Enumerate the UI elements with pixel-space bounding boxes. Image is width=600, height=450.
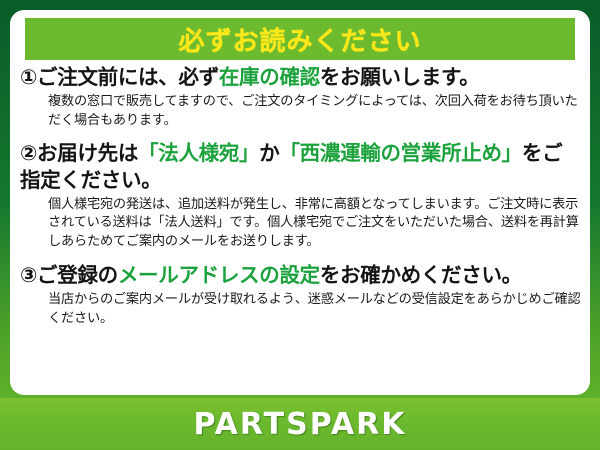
headline-highlight: 「法人様宛」: [138, 141, 259, 165]
notice-item-3-headline: ③ご登録のメールアドレスの設定をお確かめください。: [18, 262, 582, 289]
notice-banner: 必ずお読みください ①ご注文前には、必ず在庫の確認をお願いします。 複数の窓口で…: [0, 0, 600, 450]
notice-item-2-subtext: 個人様宅宛の発送は、追加送料が発生し、非常に高額となってしまいます。ご注文時に表…: [18, 196, 582, 252]
headline-segment: をお願いします。: [320, 65, 480, 89]
notice-item-2: ②お届け先は「法人様宛」か「西濃運輸の営業所止め」をご指定ください。 個人様宅宛…: [18, 140, 582, 252]
headline-highlight: 「西濃運輸の営業所止め」: [279, 141, 521, 165]
notice-item-1-headline: ①ご注文前には、必ず在庫の確認をお願いします。: [18, 64, 582, 91]
notice-item-3-subtext: 当店からのご案内メールが受け取れるよう、迷惑メールなどの受信設定をあらかじめご確…: [18, 291, 582, 328]
notice-item-1-subtext: 複数の窓口で販売してますので、ご注文のタイミングによっては、次回入荷をお待ち頂い…: [18, 93, 582, 130]
brand-logo: PARTSPARK: [193, 407, 406, 442]
notice-panel: 必ずお読みください ①ご注文前には、必ず在庫の確認をお願いします。 複数の窓口で…: [10, 10, 590, 395]
headline-segment: をお確かめください。: [320, 263, 522, 287]
headline-segment: ②お届け先は: [20, 141, 138, 165]
headline-highlight: 在庫の確認: [219, 65, 320, 89]
title-bar: 必ずお読みください: [25, 18, 575, 60]
headline-segment: ①ご注文前には、必ず: [20, 65, 219, 89]
notice-content: ①ご注文前には、必ず在庫の確認をお願いします。 複数の窓口で販売してますので、ご…: [10, 64, 590, 332]
headline-highlight: メールアドレスの設定: [118, 263, 320, 287]
footer-bar: PARTSPARK: [0, 398, 600, 450]
banner-title: 必ずお読みください: [178, 21, 421, 58]
notice-item-2-headline: ②お届け先は「法人様宛」か「西濃運輸の営業所止め」をご指定ください。: [18, 140, 582, 194]
notice-item-1: ①ご注文前には、必ず在庫の確認をお願いします。 複数の窓口で販売してますので、ご…: [18, 64, 582, 131]
headline-segment: ③ご登録の: [20, 263, 118, 287]
headline-segment: か: [259, 141, 279, 165]
notice-item-3: ③ご登録のメールアドレスの設定をお確かめください。 当店からのご案内メールが受け…: [18, 262, 582, 329]
